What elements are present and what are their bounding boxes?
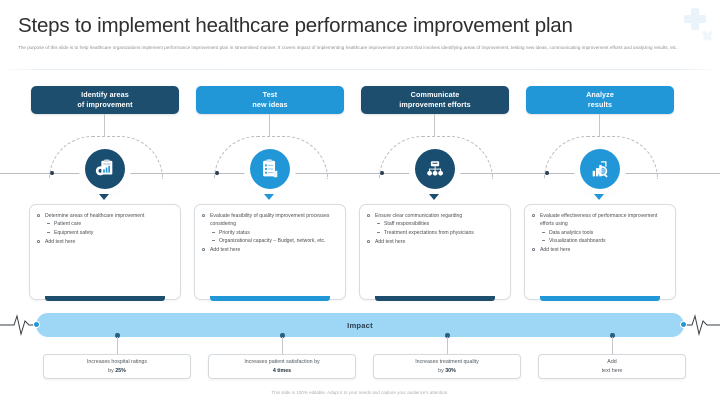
step-column-4: Analyze results (518, 0, 682, 404)
chip-connector (434, 114, 435, 136)
outcome-line1: Increases treatment quality (415, 359, 479, 365)
org-chart-network-icon (424, 158, 446, 180)
step-column-3: Communicate improvement efforts (353, 0, 517, 404)
pointer-triangle (99, 194, 109, 200)
impact-band: Impact (36, 313, 684, 337)
step-chip-line2: improvement efforts (399, 100, 470, 109)
step-chip-line1: Communicate (411, 90, 460, 99)
bullet-text: Determine areas of healthcare improvemen… (45, 213, 144, 219)
outcome-line1: Add (607, 359, 616, 365)
clipboard-checklist-icon (259, 158, 281, 180)
step-card-3: Ensure clear communication regarding Sta… (359, 204, 511, 300)
step-column-1: Identify areas of improvement (23, 0, 187, 404)
step-icon-badge-3[interactable] (412, 146, 458, 192)
bullet-item: Evaluate effectiveness of performance im… (531, 212, 668, 245)
bullet-text: Add text here (540, 247, 570, 253)
bullet-text: Add text here (375, 239, 405, 245)
pointer-triangle (594, 194, 604, 200)
sub-bullet-text: Data analytics tools (549, 230, 593, 236)
chip-connector (599, 114, 600, 136)
impact-node-left (33, 321, 40, 328)
bullet-item[interactable]: Add text here (366, 238, 503, 246)
step-column-2: Test new ideas (188, 0, 352, 404)
bar-chart-magnifier-icon (589, 158, 611, 180)
step-card-1: Determine areas of healthcare improvemen… (29, 204, 181, 300)
step-icon-badge-2[interactable] (247, 146, 293, 192)
sub-bullet-text: Equipment safety (54, 230, 93, 236)
step-card-2: Evaluate feasibility of quality improvem… (194, 204, 346, 300)
sub-bullet-text: Patient care (54, 221, 81, 227)
step-chip-line2: of improvement (77, 100, 132, 109)
outcome-line2: text here (602, 368, 623, 374)
slide-canvas: Steps to implement healthcare performanc… (0, 0, 720, 404)
sub-bullet-item: Staff responsibilities (375, 220, 503, 228)
sub-bullet-text: Staff responsibilities (384, 221, 429, 227)
step-chip-2[interactable]: Test new ideas (196, 86, 344, 114)
bullet-item[interactable]: Add text here (201, 246, 338, 254)
sub-bullet-text: Organizational capacity – Budget, networ… (219, 238, 325, 244)
sub-bullet-item: Data analytics tools (540, 229, 668, 237)
icon-disc (250, 149, 290, 189)
bullet-item: Ensure clear communication regarding Sta… (366, 212, 503, 237)
sub-bullet-item: Visualization dashboards (540, 237, 668, 245)
step-chip-line2: results (588, 100, 612, 109)
sub-bullet-item: Patient care (45, 220, 173, 228)
step-icon-badge-4[interactable] (577, 146, 623, 192)
bullet-item[interactable]: Add text here (531, 246, 668, 254)
chip-connector (269, 114, 270, 136)
step-chip-1[interactable]: Identify areas of improvement (31, 86, 179, 114)
bullet-item[interactable]: Add text here (36, 238, 173, 246)
outcome-value: 25% (115, 368, 126, 374)
outcome-box-3: Increases treatment quality by 30% (373, 354, 521, 379)
outcome-box-4[interactable]: Add text here (538, 354, 686, 379)
outcome-box-2: Increases patient satisfaction by 4 time… (208, 354, 356, 379)
bullet-item: Determine areas of healthcare improvemen… (36, 212, 173, 237)
impact-node-right (680, 321, 687, 328)
sub-bullet-item: Equipment safety (45, 229, 173, 237)
step-chip-line1: Analyze (586, 90, 614, 99)
card-accent-bar (45, 296, 165, 301)
icon-disc (415, 149, 455, 189)
step-chip-line1: Test (263, 90, 278, 99)
sub-bullet-text: Visualization dashboards (549, 238, 606, 244)
sub-bullet-item: Organizational capacity – Budget, networ… (210, 237, 338, 245)
outcome-line1: Increases hospital ratings (87, 359, 147, 365)
card-accent-bar (375, 296, 495, 301)
outcome-value: 4 times (273, 368, 291, 374)
bullet-text: Ensure clear communication regarding (375, 213, 462, 219)
chip-connector (104, 114, 105, 136)
card-accent-bar (540, 296, 660, 301)
step-chip-3[interactable]: Communicate improvement efforts (361, 86, 509, 114)
outcome-value: 30% (445, 368, 456, 374)
bullet-text: Evaluate feasibility of quality improvem… (210, 213, 329, 227)
icon-disc (85, 149, 125, 189)
step-chip-4[interactable]: Analyze results (526, 86, 674, 114)
pointer-triangle (429, 194, 439, 200)
footer-note: This slide is 100% editable. Adapt it to… (0, 390, 720, 395)
icon-disc (580, 149, 620, 189)
step-card-4: Evaluate effectiveness of performance im… (524, 204, 676, 300)
sub-bullet-item: Treatment expectations from physicians (375, 229, 503, 237)
clipboard-chart-gear-icon (94, 158, 116, 180)
step-chip-line2: new ideas (252, 100, 287, 109)
step-icon-badge-1[interactable] (82, 146, 128, 192)
card-accent-bar (210, 296, 330, 301)
step-chip-line1: Identify areas (81, 90, 129, 99)
pointer-triangle (264, 194, 274, 200)
bullet-item: Evaluate feasibility of quality improvem… (201, 212, 338, 245)
sub-bullet-text: Treatment expectations from physicians (384, 230, 474, 236)
outcome-line1: Increases patient satisfaction by (244, 359, 319, 365)
impact-label: Impact (347, 321, 373, 330)
bullet-text: Add text here (210, 247, 240, 253)
sub-bullet-text: Priority status (219, 230, 250, 236)
bullet-text: Evaluate effectiveness of performance im… (540, 213, 657, 227)
bullet-text: Add text here (45, 239, 75, 245)
sub-bullet-item: Priority status (210, 229, 338, 237)
outcome-box-1: Increases hospital ratings by 25% (43, 354, 191, 379)
